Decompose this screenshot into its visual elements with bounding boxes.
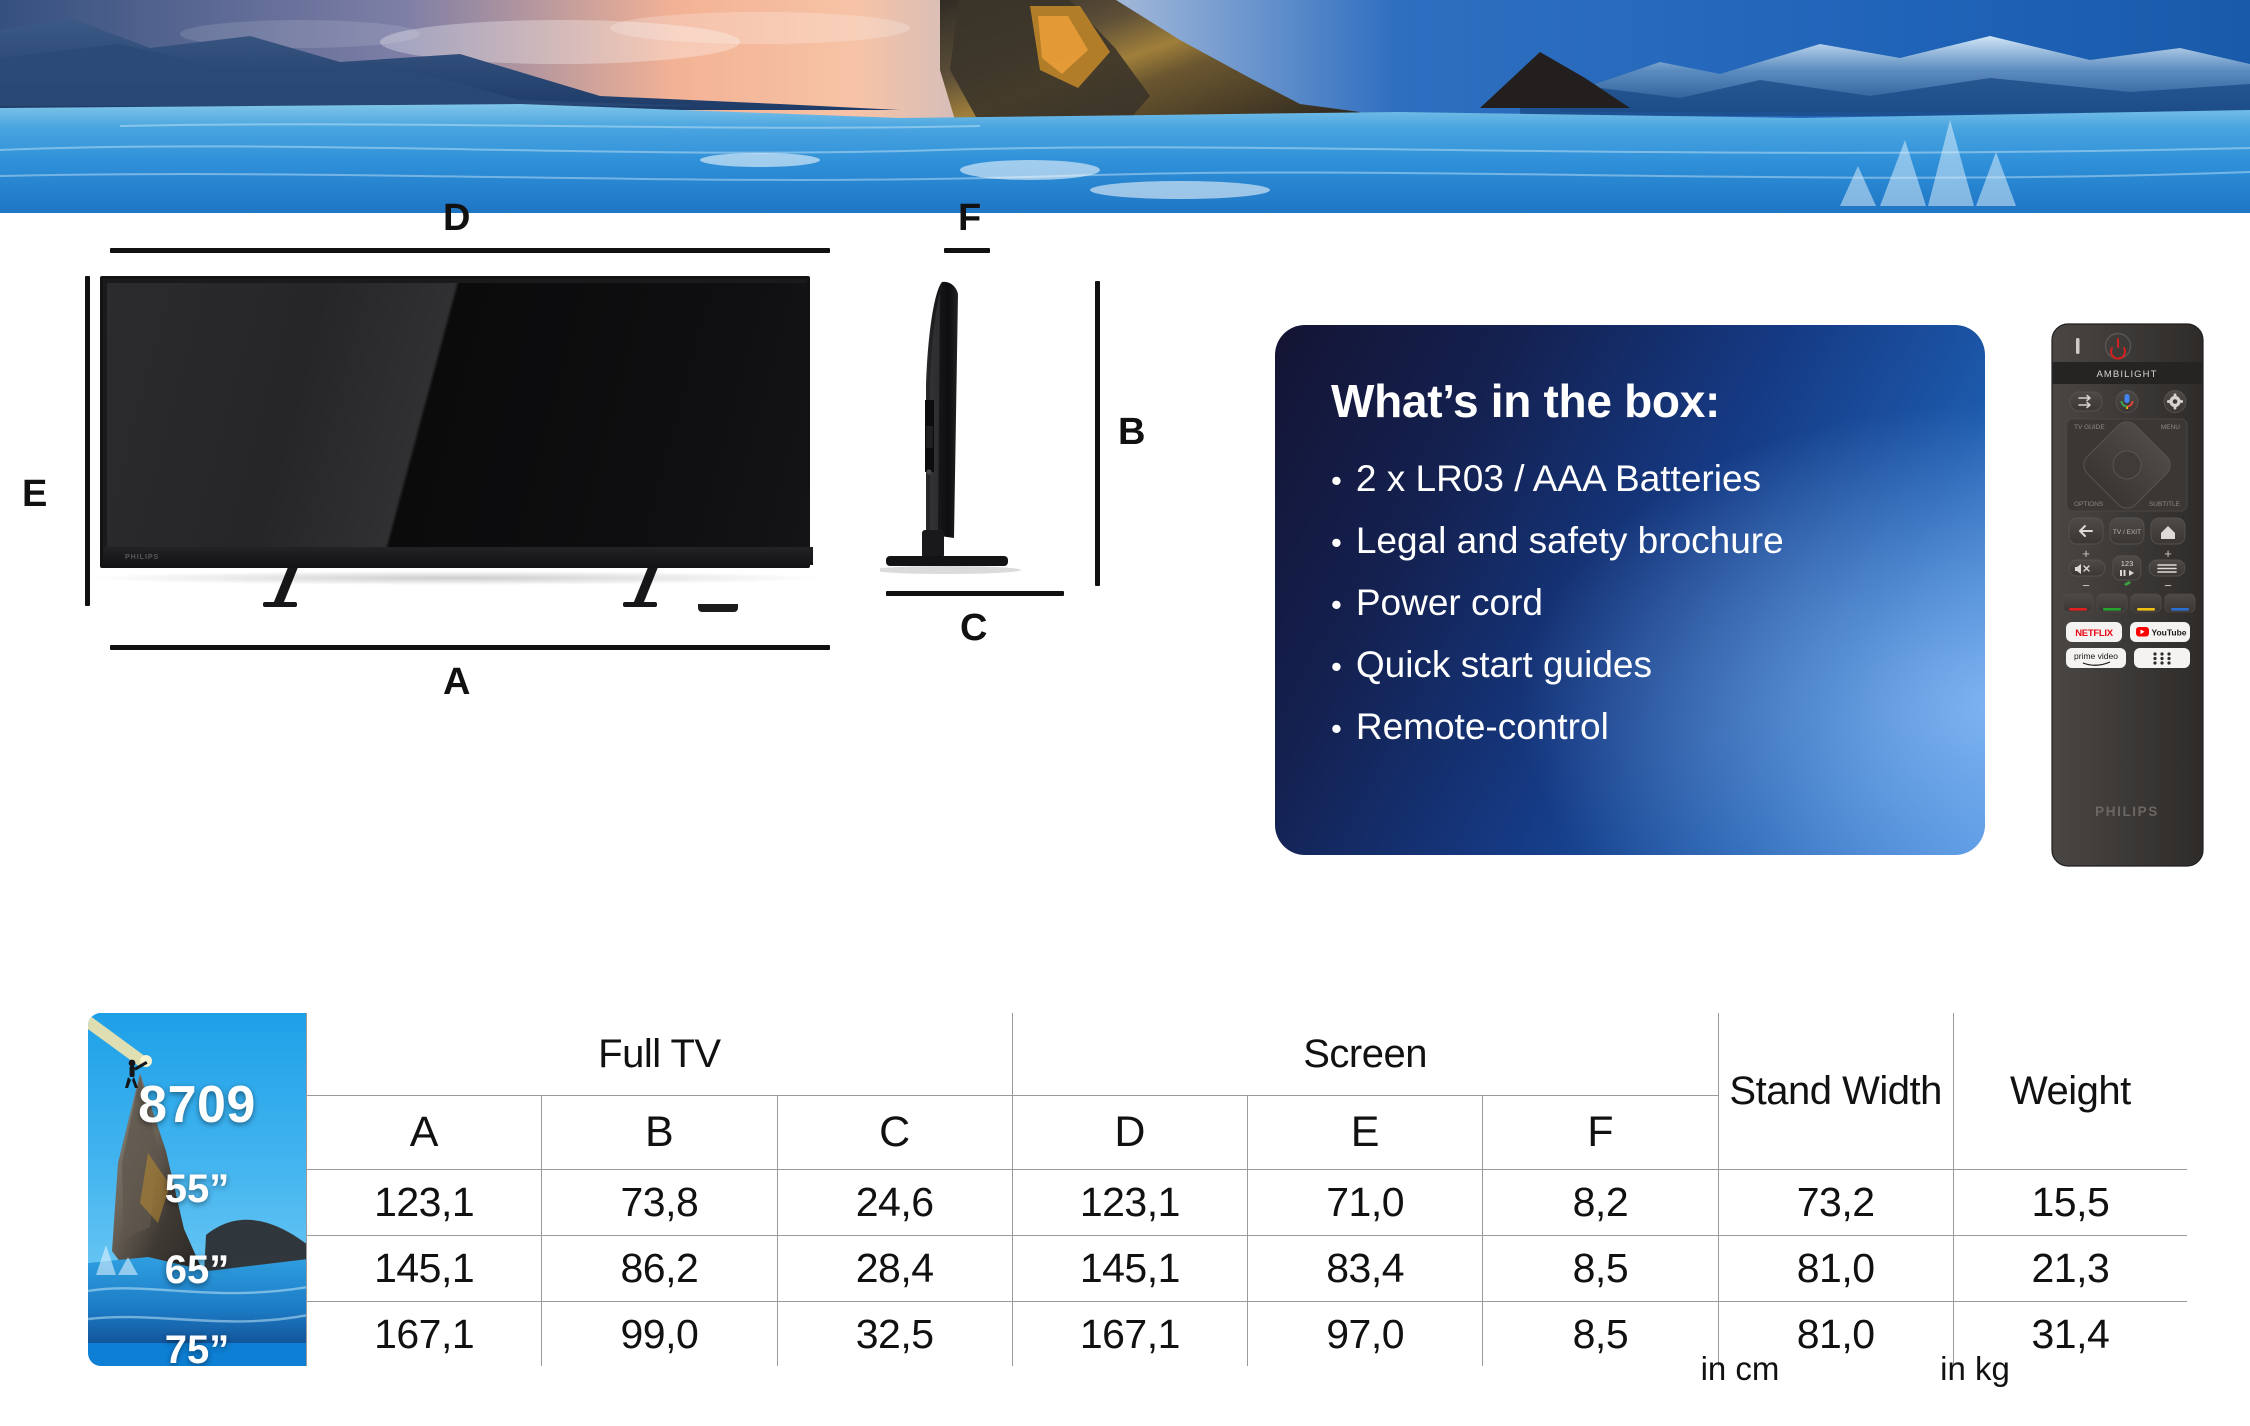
list-item: •Legal and safety brochure — [1331, 521, 1929, 561]
menu-label: MENU — [2161, 424, 2180, 431]
dim-label-A: A — [443, 661, 471, 704]
cell-65-weight: 21,3 — [1953, 1236, 2188, 1302]
green-key-stripe — [2103, 608, 2121, 611]
column-header-B: B — [542, 1096, 777, 1170]
tv-foot-pad-right — [623, 602, 657, 607]
column-header-A: A — [307, 1096, 542, 1170]
cell-65-A: 145,1 — [307, 1236, 542, 1302]
list-item-label: Quick start guides — [1356, 645, 1652, 685]
column-header-C: C — [777, 1096, 1012, 1170]
cell-55-A: 123,1 — [307, 1170, 542, 1236]
units-weight-label: in kg — [1875, 1350, 2075, 1388]
column-header-F: F — [1483, 1096, 1718, 1170]
volume-plus-label: + — [2082, 546, 2090, 561]
channel-minus-label: − — [2164, 578, 2172, 593]
list-item: •Power cord — [1331, 583, 1929, 623]
tv-screen — [107, 283, 809, 555]
ambilight-label: AMBILIGHT — [2096, 369, 2157, 380]
tv-side-artwork — [880, 276, 1060, 616]
tv-chin — [103, 547, 813, 565]
blue-key-stripe — [2171, 608, 2189, 611]
list-item-label: Remote-control — [1356, 707, 1609, 747]
tv-guide-label: TV GUIDE — [2074, 424, 2105, 431]
whats-in-the-box-panel: What’s in the box: •2 x LR03 / AAA Batte… — [1275, 325, 1985, 855]
list-item: •Quick start guides — [1331, 645, 1929, 685]
units-length-label: in cm — [1640, 1350, 1840, 1388]
cell-65-E: 83,4 — [1248, 1236, 1483, 1302]
cell-55-B: 73,8 — [542, 1170, 777, 1236]
bullet-icon: • — [1331, 589, 1342, 620]
tv-bezel: PHILIPS — [100, 276, 810, 568]
remote-artwork: AMBILIGHT TV GUIDE MENU — [2050, 322, 2205, 868]
dim-label-C: C — [960, 607, 988, 650]
dim-line-C — [886, 591, 1064, 596]
cell-55-weight: 15,5 — [1953, 1170, 2188, 1236]
product-thumbnail-artwork — [88, 1013, 307, 1343]
ok-button — [2113, 451, 2141, 479]
subtitle-label: SUBTITLE — [2149, 501, 2181, 508]
box-panel-title: What’s in the box: — [1331, 377, 1929, 425]
philips-logo-front: PHILIPS — [125, 554, 159, 561]
source-button — [2070, 392, 2102, 411]
ir-receiver-nub — [698, 604, 738, 612]
cell-55-stand-width: 73,2 — [1718, 1170, 1953, 1236]
standby-bar-icon — [2076, 338, 2080, 354]
philips-brand-label: PHILIPS — [2095, 804, 2159, 819]
dim-label-E: E — [22, 473, 48, 516]
cell-55-E: 71,0 — [1248, 1170, 1483, 1236]
dim-label-D: D — [443, 197, 471, 240]
tv-shadow — [90, 571, 820, 585]
list-item-label: Legal and safety brochure — [1356, 521, 1784, 561]
options-label: OPTIONS — [2074, 501, 2104, 508]
cell-65-C: 28,4 — [777, 1236, 1012, 1302]
cell-75-C: 32,5 — [777, 1302, 1012, 1368]
dim-label-B: B — [1118, 411, 1146, 454]
volume-minus-label: − — [2082, 578, 2090, 593]
numeric-label: 123 — [2121, 559, 2134, 568]
dimension-diagram: D E PHILIPS A F — [0, 213, 1250, 973]
bullet-icon: • — [1331, 651, 1342, 682]
bullet-icon: • — [1331, 713, 1342, 744]
group-header-weight: Weight — [1953, 1012, 2188, 1170]
philips-remote-control: AMBILIGHT TV GUIDE MENU — [2050, 322, 2205, 868]
column-header-D: D — [1012, 1096, 1247, 1170]
group-header-screen: Screen — [1012, 1012, 1718, 1096]
bullet-icon: • — [1331, 465, 1342, 496]
tv-side-view — [880, 276, 1060, 616]
list-item: •2 x LR03 / AAA Batteries — [1331, 459, 1929, 499]
list-item: •Remote-control — [1331, 707, 1929, 747]
cell-75-D: 167,1 — [1012, 1302, 1247, 1368]
table-row: 167,1 99,0 32,5 167,1 97,0 8,5 81,0 31,4 — [87, 1302, 2189, 1368]
dimensions-table: 8709 55” 65” 75” Full TV Screen Stand Wi… — [85, 1010, 2190, 1369]
list-item-label: Power cord — [1356, 583, 1543, 623]
channel-plus-label: + — [2164, 546, 2172, 561]
table-group-header-row: 8709 55” 65” 75” Full TV Screen Stand Wi… — [87, 1012, 2189, 1096]
banner-artwork — [0, 0, 2250, 213]
netflix-label: NETFLIX — [2075, 628, 2113, 639]
cell-65-F: 8,5 — [1483, 1236, 1718, 1302]
box-contents-list: •2 x LR03 / AAA Batteries •Legal and saf… — [1331, 459, 1929, 747]
group-header-full-tv: Full TV — [307, 1012, 1013, 1096]
table-row: 145,1 86,2 28,4 145,1 83,4 8,5 81,0 21,3 — [87, 1236, 2189, 1302]
table-row: 123,1 73,8 24,6 123,1 71,0 8,2 73,2 15,5 — [87, 1170, 2189, 1236]
cell-65-stand-width: 81,0 — [1718, 1236, 1953, 1302]
youtube-label: YouTube — [2151, 628, 2186, 638]
dim-label-F: F — [958, 197, 982, 240]
cell-75-A: 167,1 — [307, 1302, 542, 1368]
red-key-stripe — [2069, 608, 2087, 611]
bullet-icon: • — [1331, 527, 1342, 558]
tv-exit-label: TV / EXIT — [2113, 529, 2141, 536]
cell-55-F: 8,2 — [1483, 1170, 1718, 1236]
prime-video-label: prime video — [2074, 651, 2118, 661]
dim-line-F — [944, 248, 990, 253]
product-image-cell: 8709 55” 65” 75” — [87, 1012, 307, 1368]
dim-line-E — [85, 276, 90, 606]
cell-55-D: 123,1 — [1012, 1170, 1247, 1236]
group-header-stand-width: Stand Width — [1718, 1012, 1953, 1170]
apps-grid-icon — [2153, 652, 2170, 664]
tv-foot-pad-left — [263, 602, 297, 607]
tv-front-view: PHILIPS — [100, 276, 810, 606]
yellow-key-stripe — [2137, 608, 2155, 611]
hero-banner-image — [0, 0, 2250, 213]
list-item-label: 2 x LR03 / AAA Batteries — [1356, 459, 1761, 499]
cell-65-D: 145,1 — [1012, 1236, 1247, 1302]
cell-75-B: 99,0 — [542, 1302, 777, 1368]
cell-65-B: 86,2 — [542, 1236, 777, 1302]
column-header-E: E — [1248, 1096, 1483, 1170]
dim-line-B — [1095, 281, 1100, 586]
cell-75-E: 97,0 — [1248, 1302, 1483, 1368]
dim-line-A — [110, 645, 830, 650]
dim-line-D — [110, 248, 830, 253]
cell-55-C: 24,6 — [777, 1170, 1012, 1236]
